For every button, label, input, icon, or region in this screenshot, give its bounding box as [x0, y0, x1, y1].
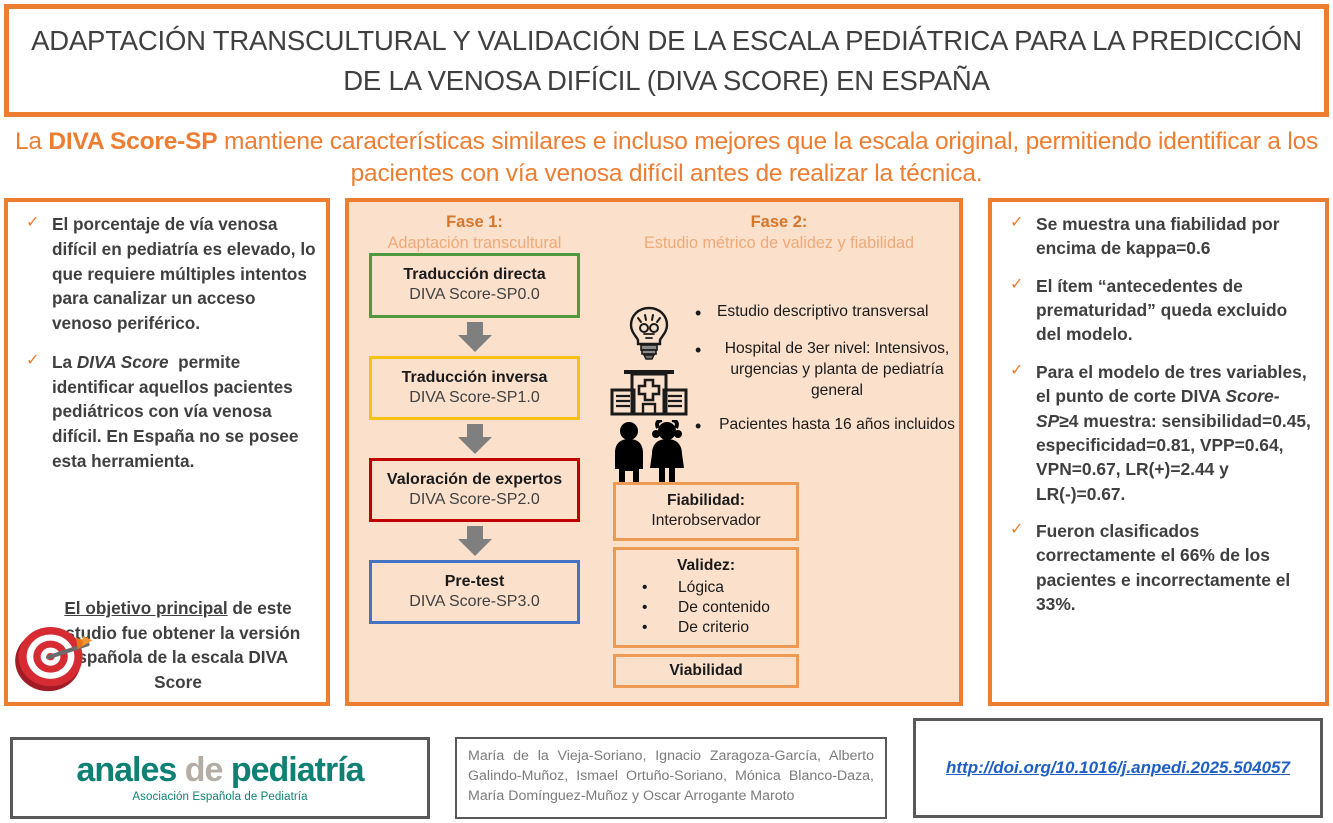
logo-tagline: Asociación Española de Pediatría	[132, 791, 307, 803]
right-panel: ✓ Se muestra una fiabilidad por encima d…	[988, 198, 1329, 706]
list-item: De contenido	[634, 598, 792, 618]
list-item: Lógica	[634, 578, 792, 598]
children-boy-girl-icon	[607, 420, 691, 490]
phase2-column: Fase 2: Estudio métrico de validez y fia…	[599, 204, 959, 704]
list-item: ✓ Para el modelo de tres variables, el p…	[1002, 360, 1315, 506]
flow-step-sub: DIVA Score-SP1.0	[376, 388, 573, 408]
flow-step-sub: DIVA Score-SP2.0	[376, 490, 573, 510]
phase2-subtitle: Estudio métrico de validez y fiabilidad	[599, 233, 959, 253]
validez-title: Validez:	[620, 556, 792, 576]
phase1-heading: Fase 1: Adaptación transcultural	[353, 204, 596, 253]
list-item-text: Pacientes hasta 16 años incluidos	[717, 415, 957, 438]
flow-step-traduccion-directa: Traducción directa DIVA Score-SP0.0	[369, 253, 580, 317]
poster-subtitle: La DIVA Score-SP mantiene característica…	[14, 126, 1319, 191]
subtitle-post: mantiene características similares e inc…	[217, 128, 1318, 187]
fiabilidad-title: Fiabilidad:	[620, 491, 792, 511]
flow-step-sub: DIVA Score-SP0.0	[376, 285, 573, 305]
check-icon: ✓	[18, 212, 52, 336]
list-item: • Hospital de 3er nivel: Intensivos, urg…	[695, 339, 957, 401]
journal-logo-box: anales de pediatría Asociación Española …	[10, 737, 430, 819]
doi-link[interactable]: http://doi.org/10.1016/j.anpedi.2025.504…	[946, 758, 1290, 778]
diva-score-italic: DIVA Score	[77, 352, 169, 372]
list-item-text: Estudio descriptivo transversal	[717, 302, 957, 325]
list-item-text: Hospital de 3er nivel: Intensivos, urgen…	[717, 339, 957, 401]
right-check-list: ✓ Se muestra una fiabilidad por encima d…	[992, 202, 1325, 616]
list-item-text: Fueron clasificados correctamente el 66%…	[1036, 519, 1315, 616]
phase2-heading: Fase 2: Estudio métrico de validez y fia…	[599, 204, 959, 253]
flow-step-title: Traducción directa	[376, 265, 573, 285]
fiabilidad-sub: Interobservador	[620, 511, 792, 531]
flow-step-title: Valoración de expertos	[376, 470, 573, 490]
list-item: ✓ Se muestra una fiabilidad por encima d…	[1002, 212, 1315, 261]
check-icon: ✓	[1002, 360, 1036, 506]
target-dartboard-icon	[10, 618, 96, 692]
flow-arrow-3	[353, 526, 596, 556]
flow-step-title: Pre-test	[376, 572, 573, 592]
bullet-icon: •	[695, 302, 717, 325]
bullet-icon: •	[695, 415, 717, 438]
flow-step-title: Traducción inversa	[376, 368, 573, 388]
viabilidad-box: Viabilidad	[613, 654, 799, 688]
left-check-list: ✓ El porcentaje de vía venosa difícil en…	[8, 202, 326, 474]
list-item-text: La DIVA Score permite identificar aquell…	[52, 350, 316, 474]
subtitle-pre: La	[15, 128, 48, 155]
validez-box: Validez: Lógica De contenido De criterio	[613, 547, 799, 648]
page-title: ADAPTACIÓN TRANSCULTURAL Y VALIDACIÓN DE…	[9, 21, 1324, 99]
authors-box: María de la Vieja-Soriano, Ignacio Zarag…	[455, 737, 887, 819]
journal-logo-wordmark: anales de pediatría	[76, 753, 363, 787]
objective-block: El objetivo principal de este estudio fu…	[8, 596, 326, 694]
flow-arrow-1	[353, 322, 596, 352]
phase2-icon-stack	[603, 302, 695, 490]
phase1-column: Fase 1: Adaptación transcultural Traducc…	[353, 204, 596, 704]
list-item-text: El ítem “antecedentes de prematuridad” q…	[1036, 274, 1315, 347]
left-panel: ✓ El porcentaje de vía venosa difícil en…	[4, 198, 330, 706]
score-sp-italic: Score-SP	[1036, 386, 1280, 430]
arrow-down-icon	[458, 322, 492, 352]
phase2-title: Fase 2:	[599, 212, 959, 233]
list-item: ✓ Fueron clasificados correctamente el 6…	[1002, 519, 1315, 616]
list-item: ✓ La DIVA Score permite identificar aque…	[18, 350, 316, 474]
list-item: ✓ El porcentaje de vía venosa difícil en…	[18, 212, 316, 336]
phase1-subtitle: Adaptación transcultural	[353, 233, 596, 253]
doi-box: http://doi.org/10.1016/j.anpedi.2025.504…	[913, 718, 1323, 818]
validez-list: Lógica De contenido De criterio	[620, 578, 792, 639]
check-icon: ✓	[1002, 274, 1036, 347]
flow-step-traduccion-inversa: Traducción inversa DIVA Score-SP1.0	[369, 356, 580, 420]
lightbulb-icon	[618, 302, 680, 364]
list-item: ✓ El ítem “antecedentes de prematuridad”…	[1002, 274, 1315, 347]
phase1-title: Fase 1:	[353, 212, 596, 233]
viabilidad-title: Viabilidad	[620, 661, 792, 681]
list-item: • Estudio descriptivo transversal	[695, 302, 957, 325]
phase2-outcome-boxes: Fiabilidad: Interobservador Validez: Lóg…	[613, 482, 799, 694]
hospital-icon	[610, 364, 688, 420]
list-item: • Pacientes hasta 16 años incluidos	[695, 415, 957, 438]
logo-word-anales: anales	[76, 751, 176, 789]
phase2-bullet-list: • Estudio descriptivo transversal • Hosp…	[695, 302, 957, 453]
subtitle-bold: DIVA Score-SP	[48, 128, 217, 155]
flow-step-sub: DIVA Score-SP3.0	[376, 592, 573, 612]
flow-step-valoracion-expertos: Valoración de expertos DIVA Score-SP2.0	[369, 458, 580, 522]
middle-panel: Fase 1: Adaptación transcultural Traducc…	[345, 198, 963, 706]
check-icon: ✓	[1002, 519, 1036, 616]
hospital-icon-cell	[603, 364, 695, 420]
logo-word-pediatria: pediatría	[231, 751, 364, 789]
poster-title-box: ADAPTACIÓN TRANSCULTURAL Y VALIDACIÓN DE…	[4, 4, 1329, 117]
arrow-down-icon	[458, 526, 492, 556]
objective-underline: El objetivo principal	[64, 598, 227, 618]
check-icon: ✓	[18, 350, 52, 474]
lightbulb-icon-cell	[603, 302, 695, 364]
logo-word-de: de	[185, 751, 223, 789]
arrow-down-icon	[458, 424, 492, 454]
list-item-text: Se muestra una fiabilidad por encima de …	[1036, 212, 1315, 261]
list-item-text: El porcentaje de vía venosa difícil en p…	[52, 212, 316, 336]
list-item-text: Para el modelo de tres variables, el pun…	[1036, 360, 1315, 506]
flow-arrow-2	[353, 424, 596, 454]
fiabilidad-box: Fiabilidad: Interobservador	[613, 482, 799, 541]
list-item: De criterio	[634, 618, 792, 638]
flow-step-pretest: Pre-test DIVA Score-SP3.0	[369, 560, 580, 624]
bullet-icon: •	[695, 339, 717, 401]
check-icon: ✓	[1002, 212, 1036, 261]
children-icon-cell	[603, 420, 695, 490]
